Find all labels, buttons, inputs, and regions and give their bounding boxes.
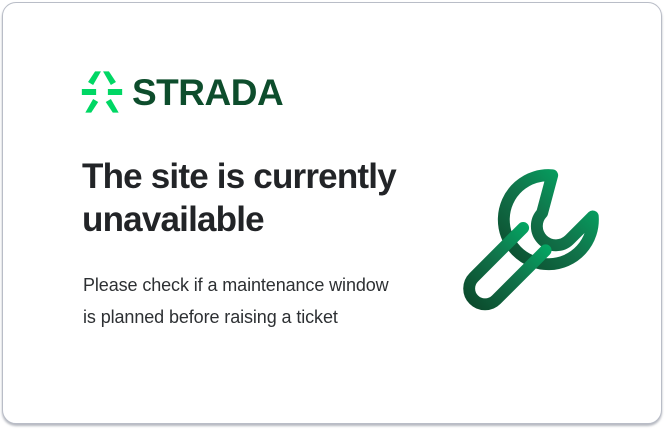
brand-lockup: STRADA <box>81 71 283 113</box>
wrench-icon <box>455 155 620 320</box>
status-description: Please check if a maintenance window is … <box>83 269 403 333</box>
status-card: STRADA The site is currently unavailable… <box>2 2 662 424</box>
page-title: The site is currently unavailable <box>82 155 412 242</box>
brand-name: STRADA <box>132 74 283 111</box>
strada-asterisk-icon <box>81 71 123 113</box>
